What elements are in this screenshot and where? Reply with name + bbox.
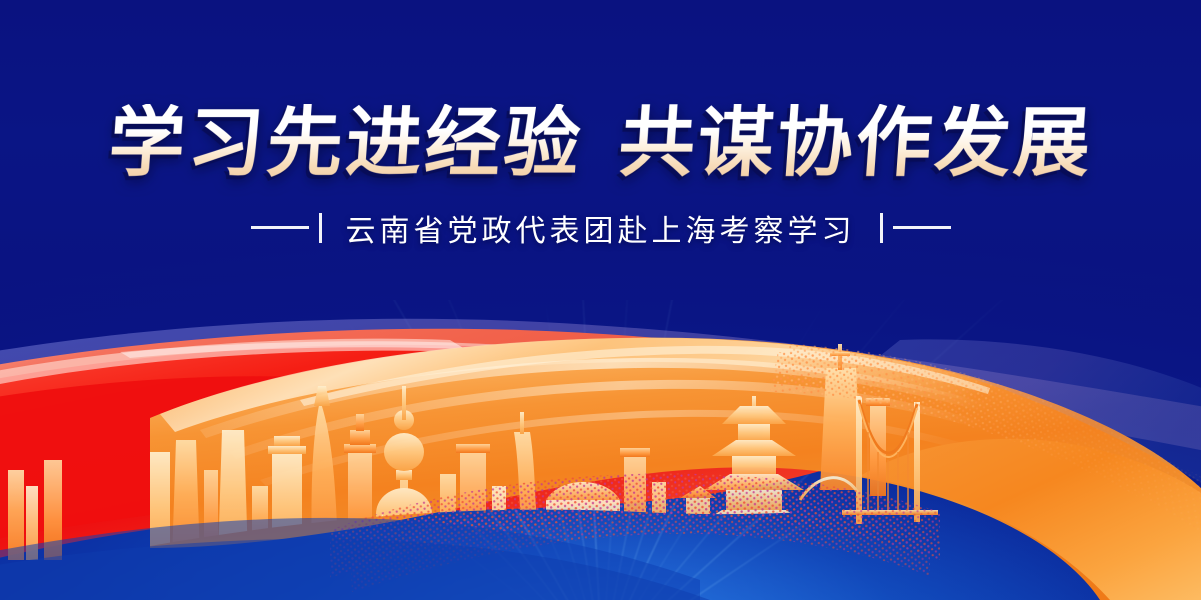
- deco-tick-right: [880, 213, 883, 243]
- page-title-right: 共谋协作发展: [615, 98, 1095, 187]
- page-title: 学习先进经验共谋协作发展: [106, 104, 1095, 182]
- artwork-layer: [0, 0, 1201, 600]
- banner-text-block: 学习先进经验共谋协作发展 云南省党政代表团赴上海考察学习: [0, 104, 1201, 250]
- line-bracket-left-icon: [251, 213, 322, 243]
- page-subtitle: 云南省党政代表团赴上海考察学习: [322, 206, 880, 250]
- deco-tick-left: [319, 213, 322, 243]
- subtitle-row: 云南省党政代表团赴上海考察学习: [0, 206, 1201, 250]
- deco-line-right: [893, 226, 951, 229]
- deco-line-left: [251, 226, 309, 229]
- page-title-left: 学习先进经验: [105, 98, 585, 187]
- line-bracket-right-icon: [880, 213, 951, 243]
- event-banner: 学习先进经验共谋协作发展 云南省党政代表团赴上海考察学习: [0, 0, 1201, 600]
